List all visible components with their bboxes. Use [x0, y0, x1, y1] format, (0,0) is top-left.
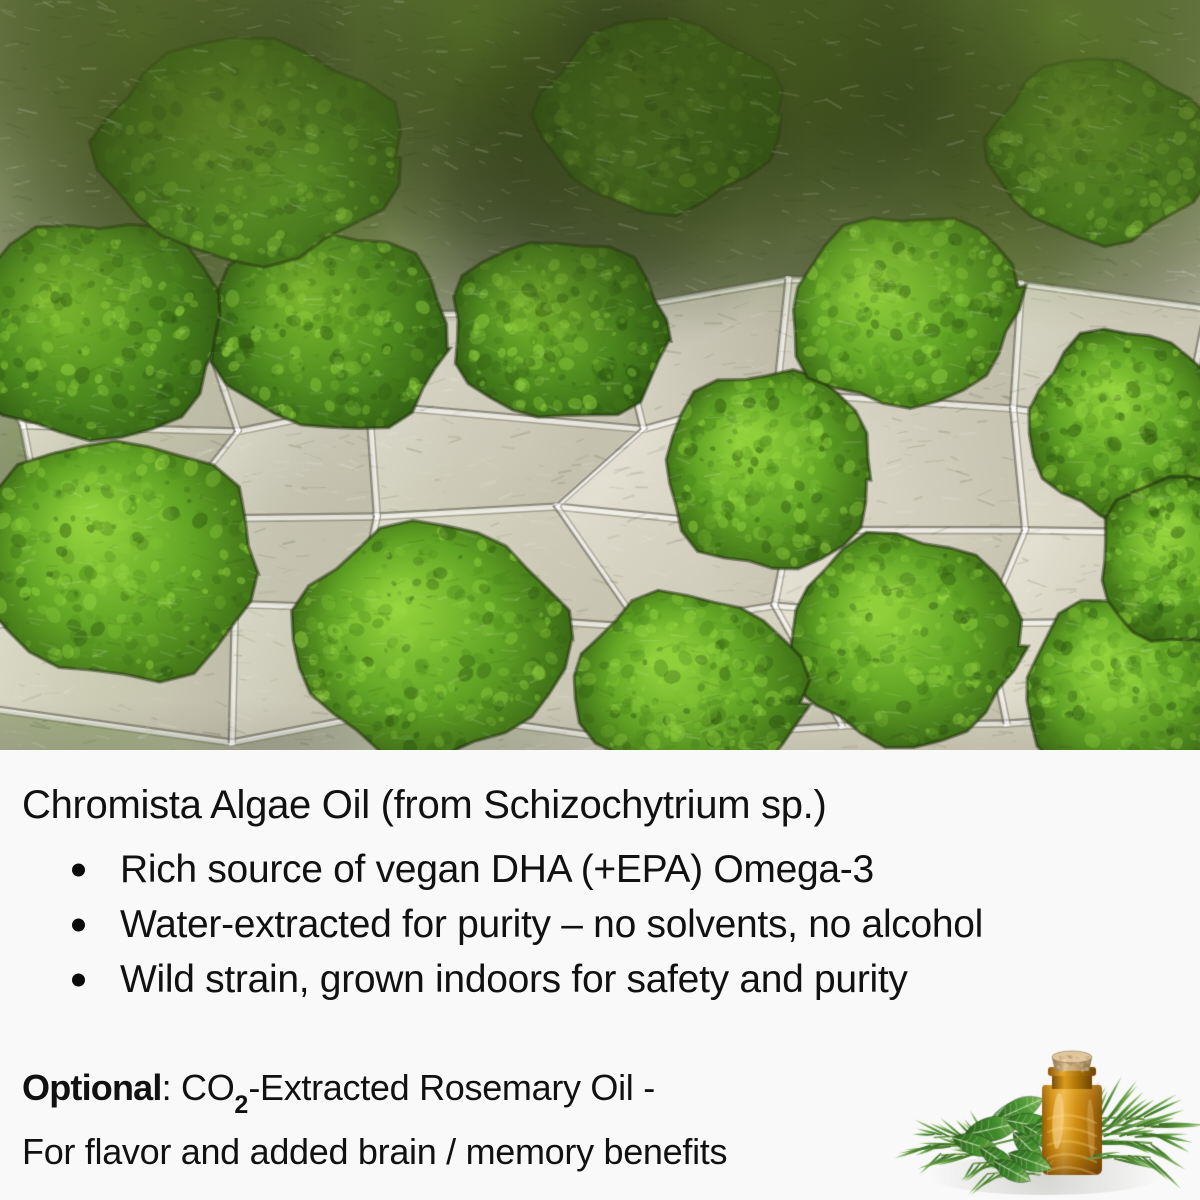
- list-item-label: Wild strain, grown indoors for safety an…: [120, 958, 908, 1002]
- rosemary-oil-bottle-canvas: [880, 1025, 1200, 1200]
- bullet-dot-icon: [72, 863, 85, 876]
- list-item-label: Water-extracted for purity – no solvents…: [120, 903, 983, 947]
- optional-colon: :: [162, 1067, 181, 1108]
- benefits-bullet-list: Rich source of vegan DHA (+EPA) Omega-3 …: [0, 842, 1200, 1007]
- page-title: Chromista Algae Oil (from Schizochytrium…: [22, 783, 827, 828]
- algae-microscopy-photo: [0, 0, 1200, 750]
- bullet-dot-icon: [72, 918, 85, 931]
- rosemary-oil-bottle-with-herbs: [880, 1025, 1200, 1200]
- bullet-dot-icon: [72, 973, 85, 986]
- list-item-label: Rich source of vegan DHA (+EPA) Omega-3: [120, 848, 874, 892]
- optional-label: Optional: [22, 1067, 162, 1108]
- optional-note: Optional: CO2-Extracted Rosemary Oil - F…: [22, 1062, 922, 1177]
- list-item: Wild strain, grown indoors for safety an…: [0, 952, 1200, 1007]
- algae-microscopy-canvas: [0, 0, 1200, 750]
- optional-note-line-2: For flavor and added brain / memory bene…: [22, 1126, 922, 1177]
- optional-note-line-1-tail: -Extracted Rosemary Oil -: [248, 1067, 655, 1108]
- optional-note-line-1: Optional: CO2-Extracted Rosemary Oil -: [22, 1062, 922, 1126]
- slide-root: Chromista Algae Oil (from Schizochytrium…: [0, 0, 1200, 1200]
- list-item: Rich source of vegan DHA (+EPA) Omega-3: [0, 842, 1200, 897]
- co2-subscript: 2: [234, 1091, 248, 1119]
- co2-prefix: CO: [181, 1067, 234, 1108]
- list-item: Water-extracted for purity – no solvents…: [0, 897, 1200, 952]
